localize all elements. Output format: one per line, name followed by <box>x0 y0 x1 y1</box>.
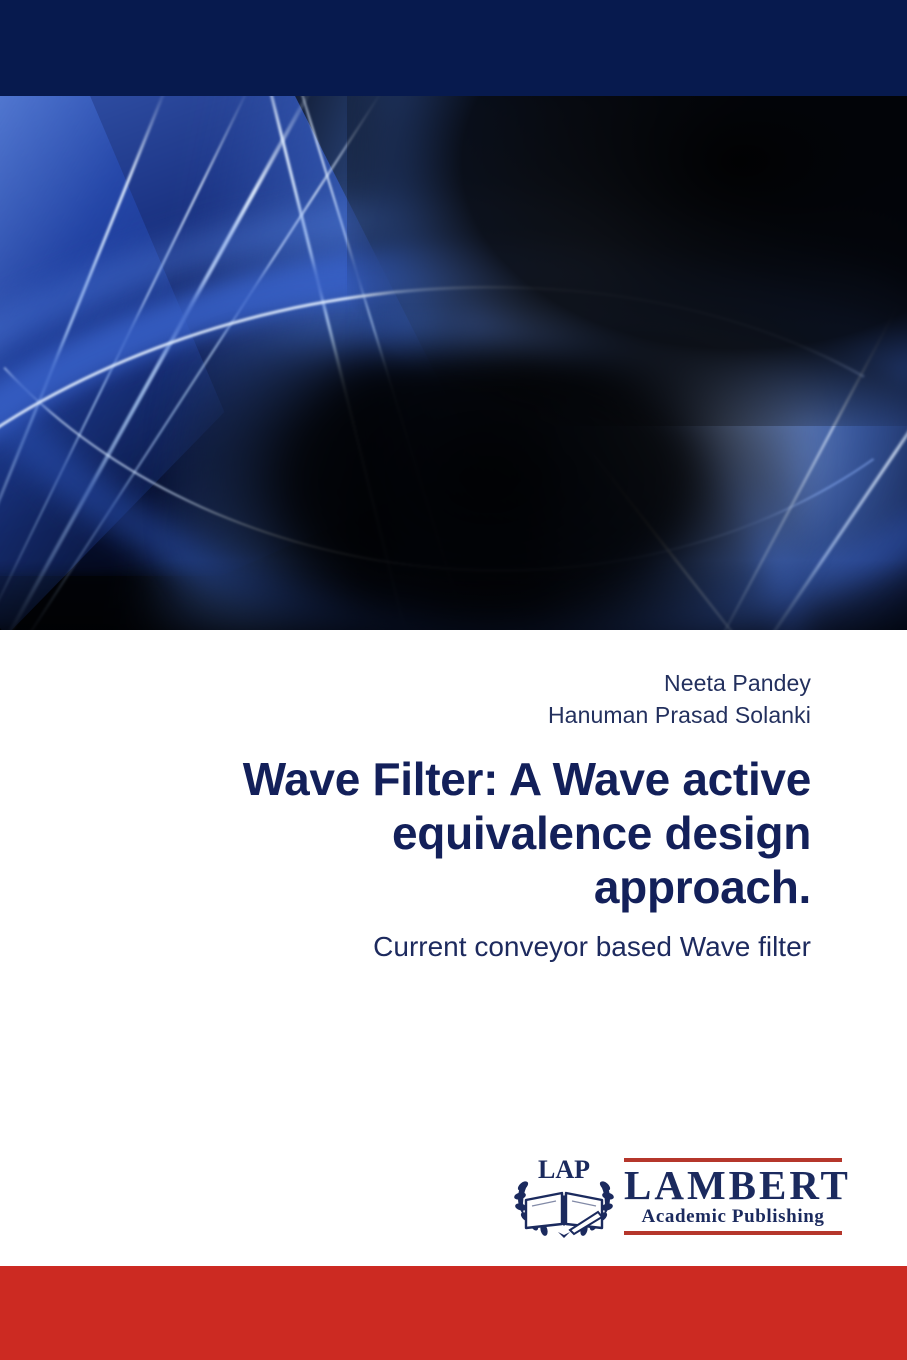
lap-emblem-text: LAP <box>538 1156 590 1184</box>
title-line-3: approach. <box>594 861 811 913</box>
publisher-tagline: Academic Publishing <box>624 1206 842 1228</box>
authors-block: Neeta Pandey Hanuman Prasad Solanki <box>548 667 811 731</box>
title-line-1: Wave Filter: A Wave active <box>243 753 811 805</box>
publisher-logo: LAP LAMBERT Academic Publishing <box>512 1152 842 1244</box>
publisher-name: LAMBERT <box>624 1165 842 1206</box>
bottom-vignette <box>0 560 907 630</box>
book-subtitle: Current conveyor based Wave filter <box>373 930 811 964</box>
cover-artwork <box>0 96 907 630</box>
top-navy-band <box>0 0 907 96</box>
logo-rule-bottom <box>624 1231 842 1235</box>
author-name: Neeta Pandey <box>548 667 811 699</box>
author-name: Hanuman Prasad Solanki <box>548 699 811 731</box>
laurel-wreath-open-book-icon: LAP <box>512 1156 616 1240</box>
book-title: Wave Filter: A Wave active equivalence d… <box>71 752 811 914</box>
publisher-wordmark: LAMBERT Academic Publishing <box>624 1158 842 1235</box>
book-cover: Neeta Pandey Hanuman Prasad Solanki Wave… <box>0 0 907 1360</box>
dark-corner-shadow <box>347 96 907 426</box>
title-line-2: equivalence design <box>392 807 811 859</box>
bottom-red-band <box>0 1266 907 1360</box>
